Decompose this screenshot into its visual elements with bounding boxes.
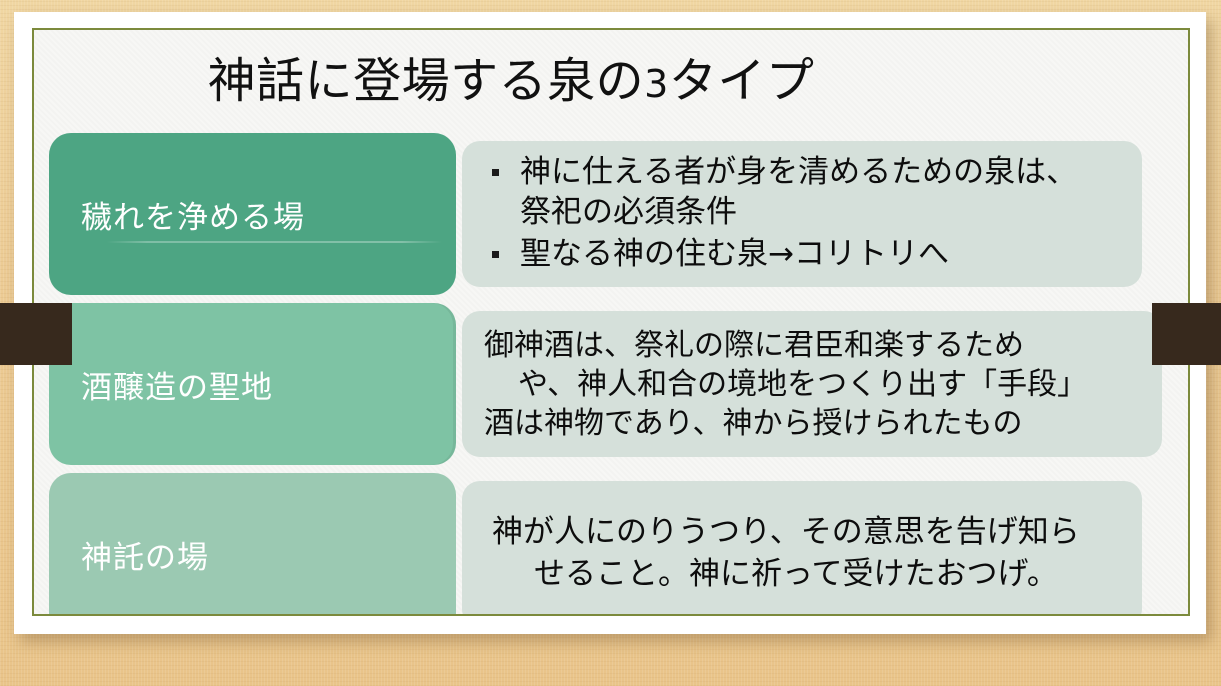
paragraph-line2: せること。神に祈って受けたおつげ。	[492, 554, 1124, 596]
row-label-box[interactable]: 酒醸造の聖地	[49, 303, 456, 465]
row-label-text: 穢れを浄める場	[81, 192, 305, 237]
page-title: 神話に登場する泉の3タイプ	[34, 56, 1188, 108]
row-body-panel[interactable]: 神に仕える者が身を清めるための泉は、 祭祀の必須条件 聖なる神の住む泉→コリトリ…	[462, 141, 1142, 287]
slide-card: 神話に登場する泉の3タイプ 穢れを浄める場 神に仕える者が身を清めるための泉は、…	[14, 12, 1206, 634]
ribbon-band-left	[0, 303, 72, 365]
page-title-number: 3	[644, 62, 669, 106]
row-label-text: 神託の場	[81, 532, 209, 577]
list-item-line2: 祭祀の必須条件	[520, 192, 1124, 232]
row-label-text: 酒醸造の聖地	[81, 362, 273, 407]
page-title-tail: タイプ	[669, 53, 815, 109]
list-item: 聖なる神の住む泉→コリトリへ	[480, 234, 1124, 274]
bullet-list: 神に仕える者が身を清めるための泉は、 祭祀の必須条件 聖なる神の住む泉→コリトリ…	[480, 152, 1124, 277]
paragraph: 酒は神物であり、神から授けられたもの	[484, 404, 1144, 443]
paragraph: 神が人にのりうつり、その意思を告げ知ら せること。神に祈って受けたおつげ。	[492, 512, 1124, 595]
content-row: 酒醸造の聖地 御神酒は、祭礼の際に君臣和楽するため や、神人和合の境地をつくり出…	[34, 303, 1188, 465]
list-item: 神に仕える者が身を清めるための泉は、 祭祀の必須条件	[480, 152, 1124, 233]
slide-inner-frame: 神話に登場する泉の3タイプ 穢れを浄める場 神に仕える者が身を清めるための泉は、…	[32, 28, 1190, 616]
row-body-panel[interactable]: 神が人にのりうつり、その意思を告げ知ら せること。神に祈って受けたおつげ。	[462, 481, 1142, 616]
paragraph: 御神酒は、祭礼の際に君臣和楽するため や、神人和合の境地をつくり出す「手段」	[484, 326, 1144, 404]
page-title-main: 神話に登場する泉の	[208, 53, 645, 109]
list-item-line1: 聖なる神の住む泉→コリトリへ	[520, 234, 1124, 274]
ribbon-band-right	[1152, 303, 1221, 365]
list-item-line1: 神に仕える者が身を清めるための泉は、	[520, 152, 1124, 192]
paragraph-line1: 神が人にのりうつり、その意思を告げ知ら	[492, 514, 1080, 550]
row-label-box[interactable]: 神託の場	[49, 473, 456, 616]
content-row: 穢れを浄める場 神に仕える者が身を清めるための泉は、 祭祀の必須条件 聖なる神の…	[34, 133, 1188, 295]
paragraph-line1: 御神酒は、祭礼の際に君臣和楽するため	[484, 328, 1024, 363]
bullet-square-icon	[492, 169, 499, 176]
paragraph-line2: や、神人和合の境地をつくり出す「手段」	[484, 365, 1144, 404]
row-label-box[interactable]: 穢れを浄める場	[49, 133, 456, 295]
paragraph-line1: 酒は神物であり、神から授けられたもの	[484, 406, 1023, 441]
bullet-square-icon	[492, 251, 499, 258]
row-body-panel[interactable]: 御神酒は、祭礼の際に君臣和楽するため や、神人和合の境地をつくり出す「手段」 酒…	[462, 311, 1162, 457]
label-divider-rule	[107, 241, 442, 243]
content-row: 神託の場 神が人にのりうつり、その意思を告げ知ら せること。神に祈って受けたおつ…	[34, 473, 1188, 616]
